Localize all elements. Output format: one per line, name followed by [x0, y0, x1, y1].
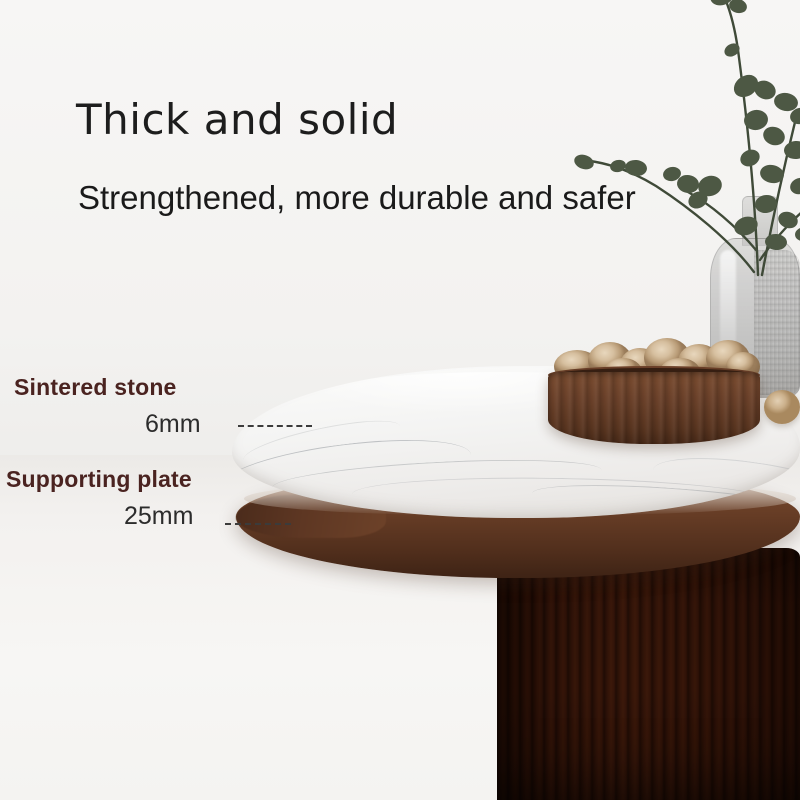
callout-supporting-plate: Supporting plate 25mm — [6, 466, 193, 531]
callout-sintered-stone: Sintered stone 6mm — [14, 374, 201, 439]
callout-value: 25mm — [124, 502, 193, 531]
page-title: Thick and solid — [76, 99, 398, 141]
loose-walnut — [764, 390, 800, 424]
leader-line-supporting-plate — [225, 523, 291, 525]
callout-label: Sintered stone — [14, 374, 201, 401]
product-image-canvas: Thick and solid Strengthened, more durab… — [0, 0, 800, 800]
callout-value: 6mm — [145, 410, 201, 439]
callout-label: Supporting plate — [6, 466, 193, 493]
leader-line-sintered-stone — [238, 425, 312, 427]
eucalyptus-branches — [560, 0, 800, 280]
page-subtitle: Strengthened, more durable and safer — [78, 180, 636, 216]
walnut-bowl — [548, 372, 760, 444]
